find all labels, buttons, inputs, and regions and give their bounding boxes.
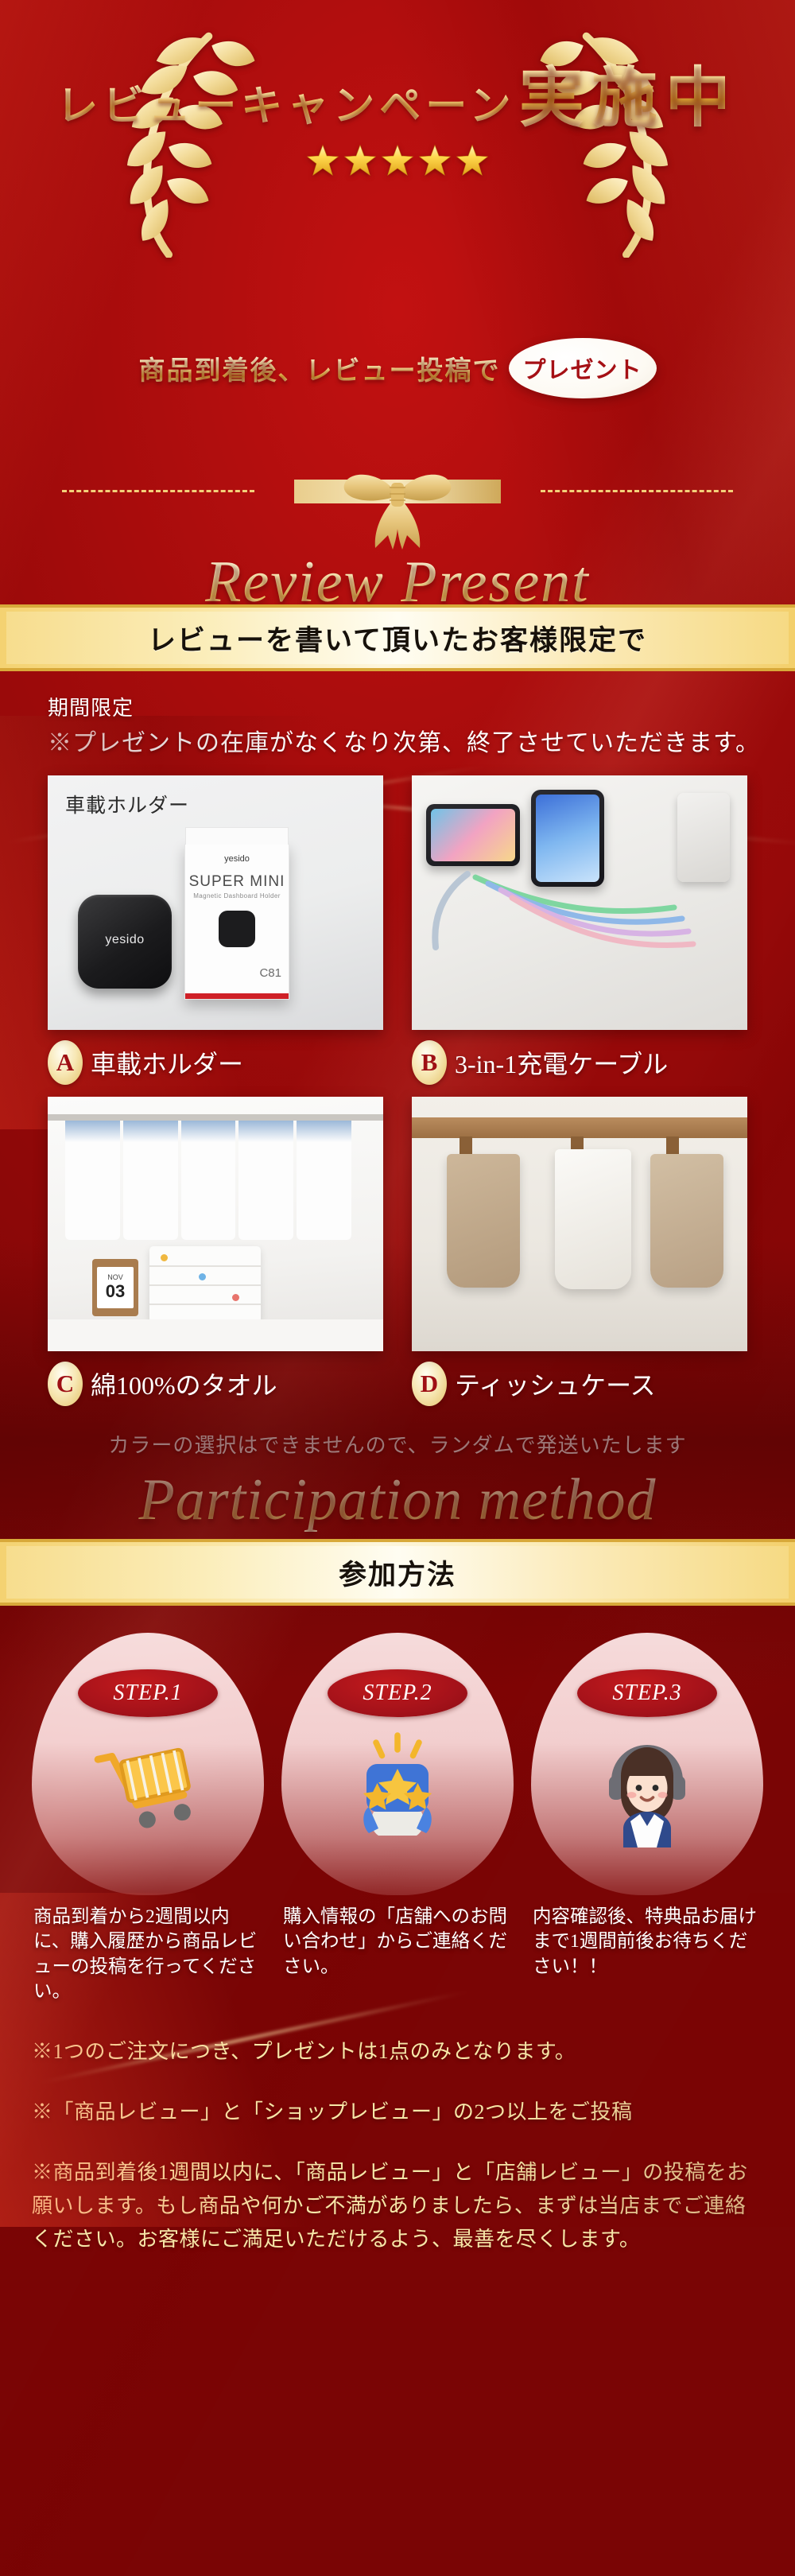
mount-brand-text: yesido <box>78 933 172 947</box>
step-pill-label-2: STEP.2 <box>363 1680 432 1706</box>
band-two-text: 参加方法 <box>339 1552 456 1593</box>
gift-photo-caption-a: 車載ホルダー <box>65 790 189 818</box>
ribbon-divider <box>0 465 795 553</box>
star-icon <box>381 144 414 177</box>
step-pill-1: STEP.1 <box>78 1669 218 1717</box>
steps-section: STEP.1 商品到着から2週間以内に、購入履歴から商品レビューの投稿を行ってく… <box>32 1633 763 2005</box>
package-subtitle-text: Magnetic Dashboard Holder <box>185 892 289 899</box>
step-bubble-2: STEP.2 <box>281 1633 514 1895</box>
gift-label-d: D ティッシュケース <box>412 1362 747 1405</box>
participation-method-title: Participation method <box>0 1467 795 1534</box>
band-one-text: レビューを書いて頂いたお客様限定で <box>148 618 647 659</box>
hanging-rod <box>48 1114 383 1121</box>
gift-name-d: ティッシュケース <box>455 1366 655 1402</box>
gift-letter-a: A <box>56 1048 74 1077</box>
star-icon <box>456 144 489 177</box>
star-icon <box>306 144 339 177</box>
campaign-kanji-title: 実施中 <box>519 45 739 139</box>
charging-cables-icon <box>412 871 747 1030</box>
step-description-3: 内容確認後、特典品お届けまで1週間前後お待ちください！！ <box>531 1905 763 1980</box>
gift-label-a: A 車載ホルダー <box>48 1041 383 1084</box>
step-column-1: STEP.1 商品到着から2週間以内に、購入履歴から商品レビューの投稿を行ってく… <box>32 1633 264 2005</box>
support-agent-icon <box>588 1728 707 1847</box>
step-column-3: STEP.3 内容確認後、特典品お <box>531 1633 763 2005</box>
gift-letter-badge-c: C <box>48 1362 83 1406</box>
shopping-cart-icon <box>88 1728 207 1847</box>
car-mount-package: yesido SUPER MINI Magnetic Dashboard Hol… <box>184 844 289 1000</box>
band-review-customers: レビューを書いて頂いたお客様限定で <box>0 604 795 671</box>
step-description-1: 商品到着から2週間以内に、購入履歴から商品レビューの投稿を行ってください。 <box>32 1905 264 2005</box>
gift-letter-badge-d: D <box>412 1362 447 1406</box>
review-campaign-page: レビューキャンペーン 実施中 商品到着後、レビュー投稿で プレゼント <box>0 0 795 2576</box>
gift-letter-badge-a: A <box>48 1040 83 1085</box>
limited-line-1: 期間限定 <box>48 692 795 721</box>
hanging-towels <box>65 1121 351 1240</box>
hero-title-block: レビューキャンペーン 実施中 <box>0 41 795 177</box>
star-icon <box>418 144 452 177</box>
tissue-case-3 <box>650 1154 723 1288</box>
dashed-line-left <box>62 490 254 492</box>
star-icon <box>343 144 377 177</box>
limited-line-2: ※プレゼントの在庫がなくなり次第、終了させていただきます。 <box>48 723 795 758</box>
random-color-note: カラーの選択はできませんので、ランダムで発送いたします <box>0 1429 795 1459</box>
calendar-month-text: NOV <box>107 1273 123 1281</box>
desk-calendar: NOV 03 <box>92 1259 138 1316</box>
step-pill-3: STEP.3 <box>577 1669 717 1717</box>
note-2: ※「商品レビュー」と「ショップレビュー」の2つ以上をご投稿 <box>32 2096 763 2129</box>
campaign-kana-title: レビューキャンペーン <box>56 72 515 132</box>
phone-device-1 <box>426 804 520 866</box>
dashed-line-right <box>541 490 733 492</box>
step-pill-2: STEP.2 <box>328 1669 467 1717</box>
step-bubble-1: STEP.1 <box>32 1633 264 1895</box>
folded-towels-stack <box>149 1246 261 1323</box>
wall-rail <box>412 1117 747 1138</box>
gift-label-c: C 綿100%のタオル <box>48 1362 383 1405</box>
present-badge: プレゼント <box>509 338 657 398</box>
gift-name-c: 綿100%のタオル <box>91 1366 277 1402</box>
gift-label-b: B 3-in-1充電ケーブル <box>412 1041 747 1084</box>
hero-section: レビューキャンペーン 実施中 商品到着後、レビュー投稿で プレゼント <box>0 0 795 604</box>
gold-bow-icon <box>294 465 501 553</box>
car-mount-product: yesido <box>78 895 172 989</box>
tissue-case-2 <box>555 1149 631 1289</box>
band-participation-method: 参加方法 <box>0 1539 795 1606</box>
gift-name-b: 3-in-1充電ケーブル <box>455 1044 668 1081</box>
gift-letter-badge-b: B <box>412 1040 447 1085</box>
bottom-notes: ※1つのご注文につき、プレゼントは1点のみとなります。 ※「商品レビュー」と「シ… <box>32 2035 763 2289</box>
gift-card-a[interactable]: 車載ホルダー yesido yesido SUPER MINI Magnetic… <box>48 775 383 1084</box>
step-bubble-3: STEP.3 <box>531 1633 763 1895</box>
note-1: ※1つのご注文につき、プレゼントは1点のみとなります。 <box>32 2035 763 2069</box>
present-badge-label: プレゼント <box>522 352 642 385</box>
tagline-row: 商品到着後、レビュー投稿で プレゼント <box>0 338 795 398</box>
gift-card-d[interactable]: D ティッシュケース <box>412 1097 747 1405</box>
tagline-text: 商品到着後、レビュー投稿で <box>139 349 501 387</box>
gift-photo-c: NOV 03 <box>48 1097 383 1351</box>
gift-photo-d <box>412 1097 747 1351</box>
calendar-day-text: 03 <box>106 1281 125 1302</box>
step-pill-label-1: STEP.1 <box>113 1680 182 1706</box>
step-column-2: STEP.2 購入情報の「店舗へのお問い合わせ」からご連絡ください。 <box>281 1633 514 2005</box>
gift-card-c[interactable]: NOV 03 C 綿100%のタオル <box>48 1097 383 1405</box>
charger-brick <box>677 793 730 882</box>
limited-time-note: 期間限定 ※プレゼントの在庫がなくなり次第、終了させていただきます。 <box>0 671 795 764</box>
gift-grid: 車載ホルダー yesido yesido SUPER MINI Magnetic… <box>48 775 747 1405</box>
gift-letter-b: B <box>421 1048 438 1077</box>
gift-photo-b <box>412 775 747 1030</box>
package-title-text: SUPER MINI <box>185 873 289 891</box>
note-3: ※商品到着後1週間以内に、「商品レビュー」と「店舗レビュー」の投稿をお願いします… <box>32 2156 763 2256</box>
gift-photo-a: 車載ホルダー yesido yesido SUPER MINI Magnetic… <box>48 775 383 1030</box>
gift-card-b[interactable]: B 3-in-1充電ケーブル <box>412 775 747 1084</box>
step-pill-label-3: STEP.3 <box>612 1680 681 1706</box>
package-brand-text: yesido <box>185 854 289 864</box>
gift-name-a: 車載ホルダー <box>91 1044 243 1081</box>
step-description-2: 購入情報の「店舗へのお問い合わせ」からご連絡ください。 <box>281 1905 514 1980</box>
gift-letter-d: D <box>421 1370 438 1398</box>
star-rating <box>0 144 795 177</box>
package-code-text: C81 <box>259 966 281 980</box>
review-stars-icon <box>338 1728 457 1847</box>
gift-letter-c: C <box>56 1370 74 1398</box>
tissue-case-1 <box>447 1154 520 1288</box>
